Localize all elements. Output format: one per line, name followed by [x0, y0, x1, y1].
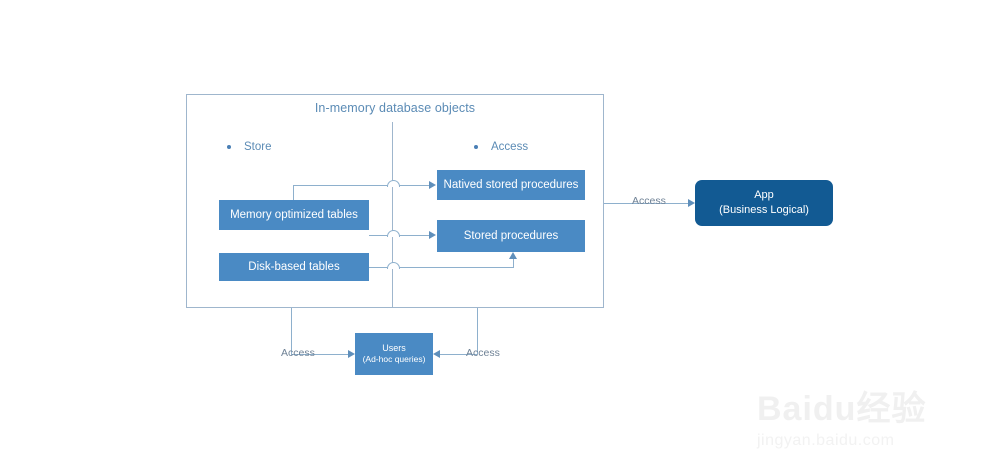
edge-label-access-users-right: Access — [466, 347, 500, 359]
node-disk-based-tables[interactable]: Disk-based tables — [219, 253, 369, 281]
edge-arrowhead-users-right — [433, 350, 440, 358]
bullet-dot-icon — [474, 145, 478, 149]
container-title: In-memory database objects — [186, 101, 604, 115]
edge-memory-to-native-riser — [293, 185, 294, 201]
node-stored-procedures[interactable]: Stored procedures — [437, 220, 585, 252]
container-vertical-divider — [392, 122, 393, 308]
edge-disk-to-stored-riser — [513, 259, 514, 268]
node-memory-optimized-tables[interactable]: Memory optimized tables — [219, 200, 369, 230]
watermark-sub-text: jingyan.baidu.com — [757, 432, 977, 450]
line-jump-stored — [387, 230, 400, 237]
edge-label-access-users-left: Access — [281, 347, 315, 359]
node-app-line1: App — [754, 188, 774, 203]
bullet-item-store: Store — [227, 141, 272, 153]
bullet-item-access: Access — [474, 141, 528, 153]
node-app-line2: (Business Logical) — [719, 203, 809, 218]
line-jump-native — [387, 180, 400, 187]
line-jump-disk — [387, 262, 400, 269]
bullet-dot-icon — [227, 145, 231, 149]
edge-memory-to-native-horizontal — [293, 185, 431, 186]
diagram-canvas: In-memory database objects Store Access … — [0, 0, 1000, 471]
watermark: Baidu经验 jingyan.baidu.com — [757, 392, 977, 450]
bullet-label-access: Access — [491, 141, 528, 153]
edge-arrowhead-users-left — [348, 350, 355, 358]
node-users-line1: Users — [382, 343, 406, 354]
edge-label-access-to-app: Access — [632, 195, 666, 207]
node-natived-stored-procedures[interactable]: Natived stored procedures — [437, 170, 585, 200]
edge-memory-to-stored-horizontal — [369, 235, 431, 236]
node-users-line2: (Ad-hoc queries) — [363, 354, 426, 365]
edge-arrowhead-native — [429, 181, 436, 189]
edge-arrowhead-disk-to-stored — [509, 252, 517, 259]
edge-arrowhead-stored — [429, 231, 436, 239]
node-app[interactable]: App (Business Logical) — [695, 180, 833, 226]
bullet-label-store: Store — [244, 141, 272, 153]
watermark-main-text: Baidu经验 — [757, 392, 977, 426]
node-users[interactable]: Users (Ad-hoc queries) — [355, 333, 433, 375]
edge-arrowhead-app — [688, 199, 695, 207]
